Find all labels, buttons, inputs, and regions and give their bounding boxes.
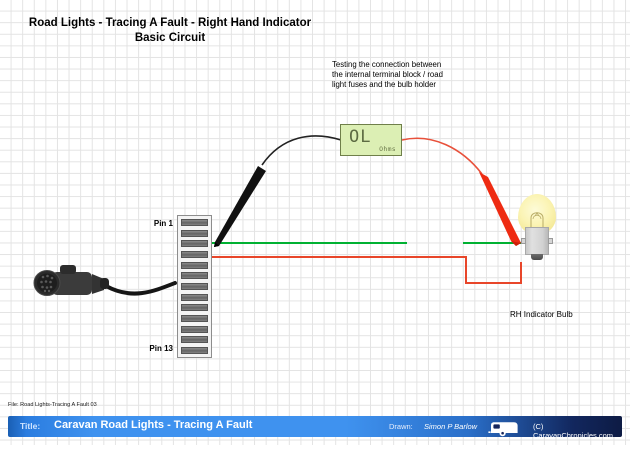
- footer-drawn-value: Simon P Barlow: [424, 422, 477, 431]
- terminal-pin[interactable]: [181, 251, 208, 258]
- multimeter-display: OL Ohms: [340, 124, 402, 156]
- page-title: Road Lights - Tracing A Fault - Right Ha…: [14, 16, 326, 46]
- bulb-label: RH Indicator Bulb: [510, 310, 573, 319]
- meter-reading: OL: [349, 128, 371, 146]
- terminal-pin[interactable]: [181, 230, 208, 237]
- terminal-pin[interactable]: [181, 272, 208, 279]
- terminal-pin[interactable]: [181, 326, 208, 333]
- bulb-side-lug-right: [548, 238, 553, 244]
- bulb-metal-base: [525, 227, 549, 255]
- pin-1-label: Pin 1: [125, 219, 173, 228]
- footer-bar: Title: Caravan Road Lights - Tracing A F…: [8, 416, 622, 437]
- footer-copyright: (C) CaravanChronicles.com: [533, 422, 622, 437]
- terminal-block: [177, 215, 212, 358]
- terminal-pin[interactable]: [181, 347, 208, 354]
- red-wire: [212, 257, 521, 283]
- bulb-side-lug-left: [521, 238, 526, 244]
- footer-title-label: Title:: [20, 421, 40, 431]
- bulb-bottom-contact: [531, 254, 543, 260]
- file-label: File: Road Lights-Tracing A Fault 03: [8, 402, 97, 408]
- footer-title-value: Caravan Road Lights - Tracing A Fault: [54, 419, 252, 431]
- red-meter-lead: [402, 138, 482, 174]
- pin-13-label: Pin 13: [125, 344, 173, 353]
- caravan-icon: [488, 420, 520, 437]
- terminal-pin[interactable]: [181, 294, 208, 301]
- terminal-pin[interactable]: [181, 315, 208, 322]
- annotation-note: Testing the connection between the inter…: [332, 60, 444, 91]
- terminal-pin[interactable]: [181, 304, 208, 311]
- plug-cable: [106, 283, 175, 294]
- terminal-pin[interactable]: [181, 219, 208, 226]
- diagram-canvas: Road Lights - Tracing A Fault - Right Ha…: [0, 0, 630, 445]
- 13-pin-plug-icon: [34, 265, 109, 296]
- terminal-pin[interactable]: [181, 283, 208, 290]
- red-test-probe-icon: [479, 172, 521, 246]
- footer-drawn-label: Drawn:: [389, 422, 413, 431]
- indicator-bulb-icon: [516, 194, 558, 264]
- terminal-pin[interactable]: [181, 240, 208, 247]
- meter-unit: Ohms: [379, 145, 396, 153]
- terminal-pin[interactable]: [181, 262, 208, 269]
- terminal-pin[interactable]: [181, 336, 208, 343]
- black-test-probe-icon: [214, 166, 266, 247]
- black-meter-lead: [262, 136, 341, 165]
